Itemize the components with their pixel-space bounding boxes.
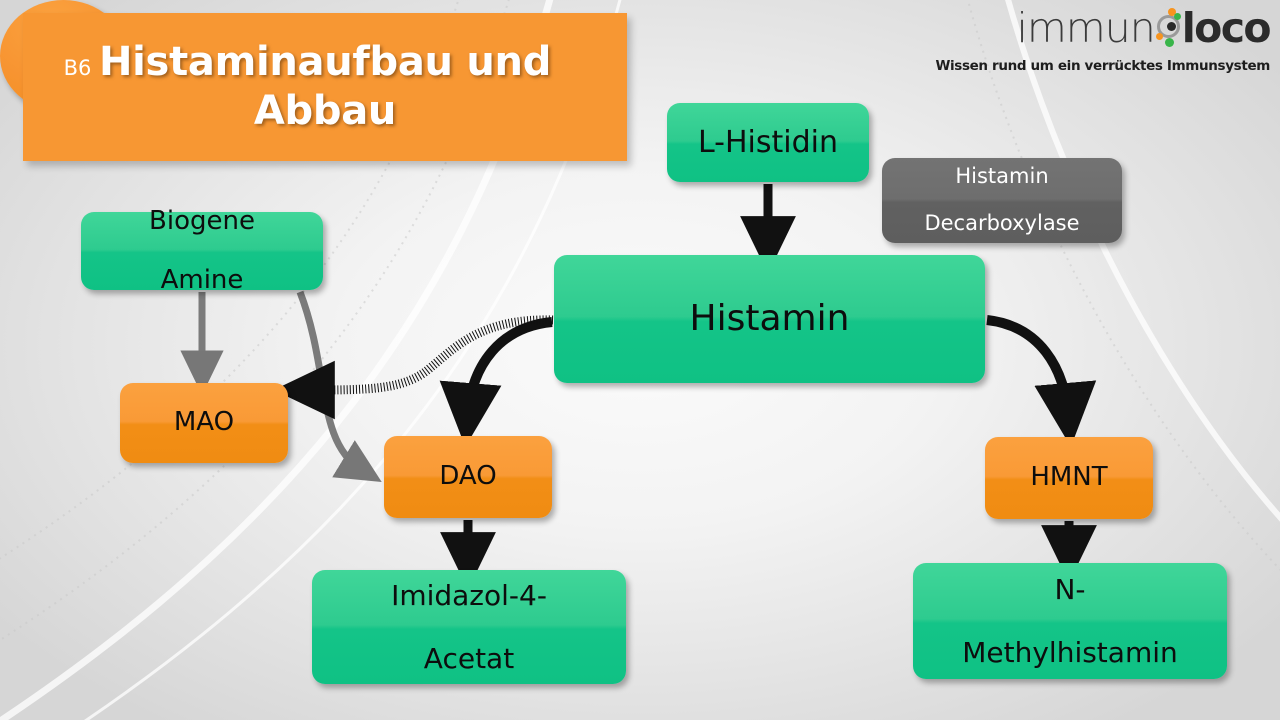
- node-biogene-amine-label: Biogene Amine: [129, 207, 275, 294]
- node-histamin-decarboxylase-label: Histamin Decarboxylase: [904, 165, 1099, 236]
- node-hmnt[interactable]: HMNT: [985, 437, 1153, 519]
- node-imidazol-4-acetat[interactable]: Imidazol-4- Acetat: [312, 570, 626, 684]
- node-mao-label: MAO: [164, 408, 244, 437]
- biogene-line1: Biogene: [139, 207, 265, 236]
- edge-biogene-to-dao: [300, 292, 362, 470]
- node-l-histidin-label: L-Histidin: [688, 126, 848, 160]
- hdc-line1: Histamin: [914, 165, 1089, 189]
- node-n-methylhistamin-label: N- Methylhistamin: [942, 574, 1198, 668]
- brand-tagline: Wissen rund um ein verrücktes Immunsyste…: [935, 58, 1270, 74]
- imidazol-line2: Acetat: [381, 643, 557, 674]
- node-biogene-amine[interactable]: Biogene Amine: [81, 212, 323, 290]
- node-histamin-label: Histamin: [680, 299, 860, 339]
- slide-title: Histaminaufbau und Abbau: [23, 13, 627, 161]
- edge-histamin-to-mao-dotted: [306, 320, 553, 390]
- node-imidazol-4-acetat-label: Imidazol-4- Acetat: [371, 580, 567, 674]
- brand-logo-light: immun: [1016, 8, 1154, 49]
- nmethyl-line2: Methylhistamin: [952, 637, 1188, 668]
- slide-canvas: Histaminaufbau und Abbau immun loco Wiss…: [0, 0, 1280, 720]
- brand-header: immun loco Wissen rund um ein verrücktes…: [900, 0, 1280, 86]
- node-n-methylhistamin[interactable]: N- Methylhistamin: [913, 563, 1227, 679]
- node-b6-label: B6: [64, 56, 92, 80]
- node-hmnt-label: HMNT: [1020, 463, 1117, 492]
- node-mao[interactable]: MAO: [120, 383, 288, 463]
- imidazol-line1: Imidazol-4-: [381, 580, 557, 611]
- node-histamin[interactable]: Histamin: [554, 255, 985, 383]
- cell-icon: [1153, 6, 1183, 50]
- biogene-line2: Amine: [139, 266, 265, 295]
- hdc-line2: Decarboxylase: [914, 212, 1089, 236]
- node-dao-label: DAO: [429, 462, 506, 491]
- nmethyl-line1: N-: [952, 574, 1188, 605]
- edge-histamin-to-hmnt: [987, 320, 1068, 414]
- node-dao[interactable]: DAO: [384, 436, 552, 518]
- edge-histamin-to-dao: [468, 322, 552, 414]
- slide-title-line1: Histaminaufbau und: [99, 39, 551, 85]
- slide-title-line2: Abbau: [254, 88, 396, 134]
- brand-logo-bold: loco: [1182, 8, 1270, 49]
- brand-logo[interactable]: immun loco: [1016, 4, 1270, 52]
- node-histamin-decarboxylase[interactable]: Histamin Decarboxylase: [882, 158, 1122, 243]
- node-l-histidin[interactable]: L-Histidin: [667, 103, 869, 182]
